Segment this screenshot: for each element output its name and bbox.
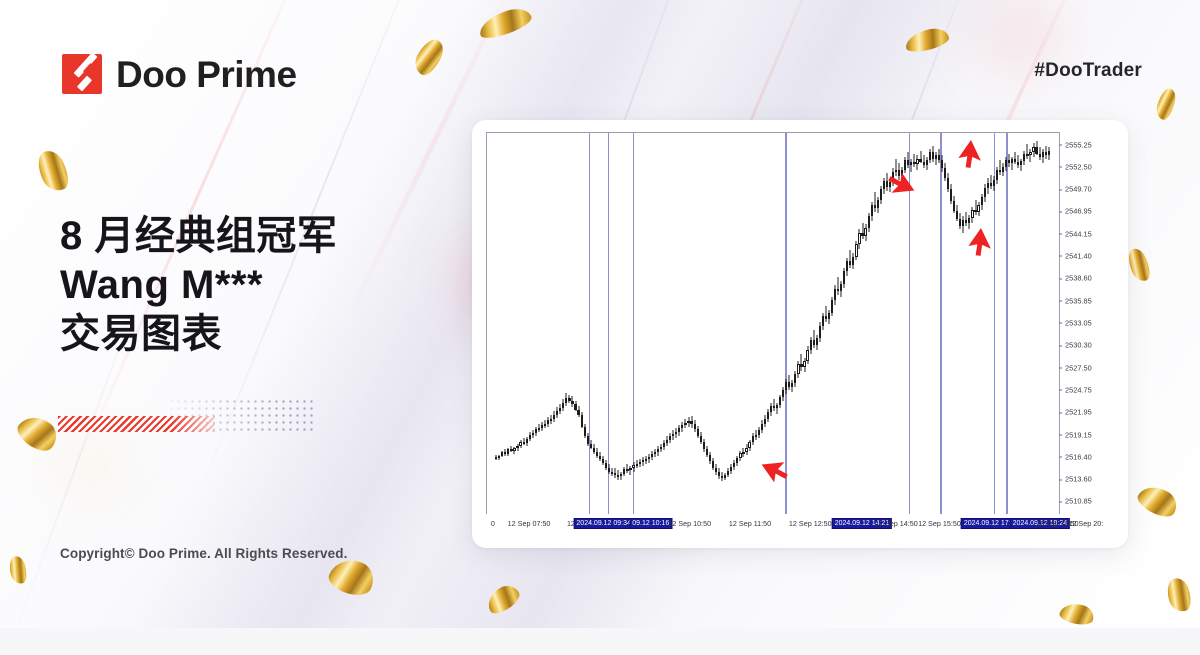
candle — [855, 133, 857, 514]
candle — [681, 133, 683, 514]
chart-time-axis: 012 Sep 07:50122024.09.12 09:3409.12 10:… — [486, 516, 1060, 538]
candle — [803, 133, 805, 514]
candle — [605, 133, 607, 514]
price-tick-label: 2510.85 — [1060, 497, 1092, 506]
price-tick-label: 2524.75 — [1060, 385, 1092, 394]
candle — [764, 133, 766, 514]
price-tick-label: 2555.25 — [1060, 140, 1092, 149]
price-tick-label: 2549.70 — [1060, 185, 1092, 194]
candle — [669, 133, 671, 514]
candle — [923, 133, 925, 514]
candle — [577, 133, 579, 514]
candle — [507, 133, 509, 514]
candle — [565, 133, 567, 514]
brand-logo-text: Doo Prime — [116, 56, 297, 93]
candle — [864, 133, 866, 514]
candle — [733, 133, 735, 514]
candle — [745, 133, 747, 514]
price-tick-label: 2535.85 — [1060, 296, 1092, 305]
copyright-text: Copyright© Doo Prime. All Rights Reserve… — [60, 546, 347, 561]
candle — [602, 133, 604, 514]
candle — [617, 133, 619, 514]
candle — [547, 133, 549, 514]
candle — [568, 133, 570, 514]
candle — [938, 133, 940, 514]
candle — [712, 133, 714, 514]
candle — [1026, 133, 1028, 514]
candle — [959, 133, 961, 514]
candle — [761, 133, 763, 514]
candle — [831, 133, 833, 514]
candle — [861, 133, 863, 514]
candle — [1035, 133, 1037, 514]
candle — [495, 133, 497, 514]
candle — [800, 133, 802, 514]
candle — [1002, 133, 1004, 514]
candle — [636, 133, 638, 514]
candle — [614, 133, 616, 514]
candle — [587, 133, 589, 514]
candle — [593, 133, 595, 514]
chart-candles-container — [487, 133, 1059, 514]
candle — [581, 133, 583, 514]
price-tick-label: 2538.60 — [1060, 274, 1092, 283]
candle — [806, 133, 808, 514]
candle — [739, 133, 741, 514]
candle — [626, 133, 628, 514]
price-tick-label: 2513.60 — [1060, 475, 1092, 484]
candle — [690, 133, 692, 514]
candle — [504, 133, 506, 514]
candle — [858, 133, 860, 514]
candle — [599, 133, 601, 514]
candle — [987, 133, 989, 514]
candle — [849, 133, 851, 514]
candle — [657, 133, 659, 514]
candle — [706, 133, 708, 514]
accent-decoration — [58, 398, 316, 440]
candle — [1048, 133, 1050, 514]
candle — [611, 133, 613, 514]
candle — [632, 133, 634, 514]
candle — [718, 133, 720, 514]
price-tick-label: 2516.40 — [1060, 452, 1092, 461]
candle — [971, 133, 973, 514]
candle — [1042, 133, 1044, 514]
candle — [672, 133, 674, 514]
candle — [926, 133, 928, 514]
candle — [932, 133, 934, 514]
candle — [947, 133, 949, 514]
candle — [645, 133, 647, 514]
candle — [574, 133, 576, 514]
accent-stripe-bar — [58, 416, 215, 432]
candle — [648, 133, 650, 514]
candle — [837, 133, 839, 514]
headline-line-1: 8 月经典组冠军 — [60, 212, 337, 261]
candle — [1008, 133, 1010, 514]
candle — [868, 133, 870, 514]
candle — [532, 133, 534, 514]
candle — [516, 133, 518, 514]
candle — [984, 133, 986, 514]
candle — [990, 133, 992, 514]
candle — [550, 133, 552, 514]
candle — [993, 133, 995, 514]
candle — [715, 133, 717, 514]
candle — [721, 133, 723, 514]
candle — [700, 133, 702, 514]
candle — [752, 133, 754, 514]
candle — [834, 133, 836, 514]
candle — [794, 133, 796, 514]
candle — [1014, 133, 1016, 514]
time-tick-label: 12 Sep 12:50 — [789, 519, 832, 528]
candle — [813, 133, 815, 514]
candle — [584, 133, 586, 514]
candle — [748, 133, 750, 514]
candle — [742, 133, 744, 514]
time-tick-label: 12 Sep 10:50 — [668, 519, 711, 528]
candle — [501, 133, 503, 514]
price-tick-label: 2530.30 — [1060, 341, 1092, 350]
candle — [596, 133, 598, 514]
candle — [1029, 133, 1031, 514]
candle — [629, 133, 631, 514]
candle — [523, 133, 525, 514]
candle — [962, 133, 964, 514]
candle — [678, 133, 680, 514]
candle — [571, 133, 573, 514]
candle — [1032, 133, 1034, 514]
candle — [953, 133, 955, 514]
candle — [562, 133, 564, 514]
candle — [553, 133, 555, 514]
candle — [675, 133, 677, 514]
candle — [880, 133, 882, 514]
candle — [666, 133, 668, 514]
candle — [730, 133, 732, 514]
candle — [694, 133, 696, 514]
candle — [556, 133, 558, 514]
price-tick-label: 2533.05 — [1060, 318, 1092, 327]
brand-logo: Doo Prime — [62, 54, 297, 94]
price-tick-label: 2541.40 — [1060, 251, 1092, 260]
candle — [755, 133, 757, 514]
candle — [623, 133, 625, 514]
time-tick-highlight: 09.12 10:16 — [629, 518, 672, 529]
candle — [1020, 133, 1022, 514]
candle — [519, 133, 521, 514]
time-tick-label: 12 Sep 11:50 — [729, 519, 771, 528]
candle — [791, 133, 793, 514]
candle — [819, 133, 821, 514]
candle — [538, 133, 540, 514]
candle — [956, 133, 958, 514]
time-tick-label: 12 Sep 15:50 — [918, 519, 961, 528]
chart-price-axis: 2555.252552.502549.702546.952544.152541.… — [1060, 132, 1114, 514]
candle — [639, 133, 641, 514]
candle — [513, 133, 515, 514]
candle — [697, 133, 699, 514]
candle — [654, 133, 656, 514]
time-tick-label: 12 Sep 14:50 — [875, 519, 918, 528]
candle — [544, 133, 546, 514]
candle — [965, 133, 967, 514]
candle — [709, 133, 711, 514]
candle — [608, 133, 610, 514]
candle — [919, 133, 921, 514]
candle — [797, 133, 799, 514]
candle — [816, 133, 818, 514]
candle — [828, 133, 830, 514]
candle — [877, 133, 879, 514]
candle — [981, 133, 983, 514]
candle — [590, 133, 592, 514]
time-tick-label: 12 Sep 07:50 — [508, 519, 551, 528]
candle — [535, 133, 537, 514]
candle — [724, 133, 726, 514]
candle — [996, 133, 998, 514]
price-tick-label: 2544.15 — [1060, 229, 1092, 238]
candle — [840, 133, 842, 514]
candle — [977, 133, 979, 514]
headline: 8 月经典组冠军 Wang M*** 交易图表 — [60, 212, 337, 358]
candle — [1017, 133, 1019, 514]
time-tick-label: 0 — [491, 519, 495, 528]
price-tick-label: 2546.95 — [1060, 207, 1092, 216]
candle — [874, 133, 876, 514]
candle — [871, 133, 873, 514]
candle — [950, 133, 952, 514]
candle — [929, 133, 931, 514]
candle — [825, 133, 827, 514]
candle — [541, 133, 543, 514]
price-tick-label: 2527.50 — [1060, 363, 1092, 372]
candle — [999, 133, 1001, 514]
candle — [1023, 133, 1025, 514]
price-tick-label: 2552.50 — [1060, 162, 1092, 171]
candle — [1005, 133, 1007, 514]
candle — [935, 133, 937, 514]
candle — [559, 133, 561, 514]
candle — [651, 133, 653, 514]
time-tick-highlight: 2024.09.12 09:34 — [573, 518, 634, 529]
price-tick-label: 2521.95 — [1060, 408, 1092, 417]
hashtag-label: #DooTrader — [1034, 60, 1142, 82]
candle — [974, 133, 976, 514]
candle — [727, 133, 729, 514]
candle — [1045, 133, 1047, 514]
candle — [620, 133, 622, 514]
candle — [1011, 133, 1013, 514]
headline-line-2: Wang M*** — [60, 261, 337, 310]
doo-prime-mark-icon — [62, 54, 102, 94]
price-tick-label: 2519.15 — [1060, 430, 1092, 439]
candlestick-chart: 2555.252552.502549.702546.952544.152541.… — [486, 130, 1114, 538]
chart-plot-area — [486, 132, 1060, 514]
background-glow — [985, 5, 1055, 65]
candle — [822, 133, 824, 514]
headline-line-3: 交易图表 — [60, 310, 337, 359]
chart-card: 2555.252552.502549.702546.952544.152541.… — [472, 120, 1128, 548]
candle — [758, 133, 760, 514]
candle — [687, 133, 689, 514]
candle — [510, 133, 512, 514]
candle — [526, 133, 528, 514]
candle — [944, 133, 946, 514]
candle — [736, 133, 738, 514]
candle — [810, 133, 812, 514]
candle — [529, 133, 531, 514]
candle — [852, 133, 854, 514]
candle — [843, 133, 845, 514]
candle — [1039, 133, 1041, 514]
candle — [498, 133, 500, 514]
background-glow — [60, 440, 120, 490]
candle — [663, 133, 665, 514]
candle — [788, 133, 790, 514]
candle — [968, 133, 970, 514]
time-tick-label: 12 Sep 20: — [1068, 519, 1103, 528]
candle — [684, 133, 686, 514]
candle — [703, 133, 705, 514]
candle — [941, 133, 943, 514]
candle — [660, 133, 662, 514]
candle — [846, 133, 848, 514]
candle — [642, 133, 644, 514]
